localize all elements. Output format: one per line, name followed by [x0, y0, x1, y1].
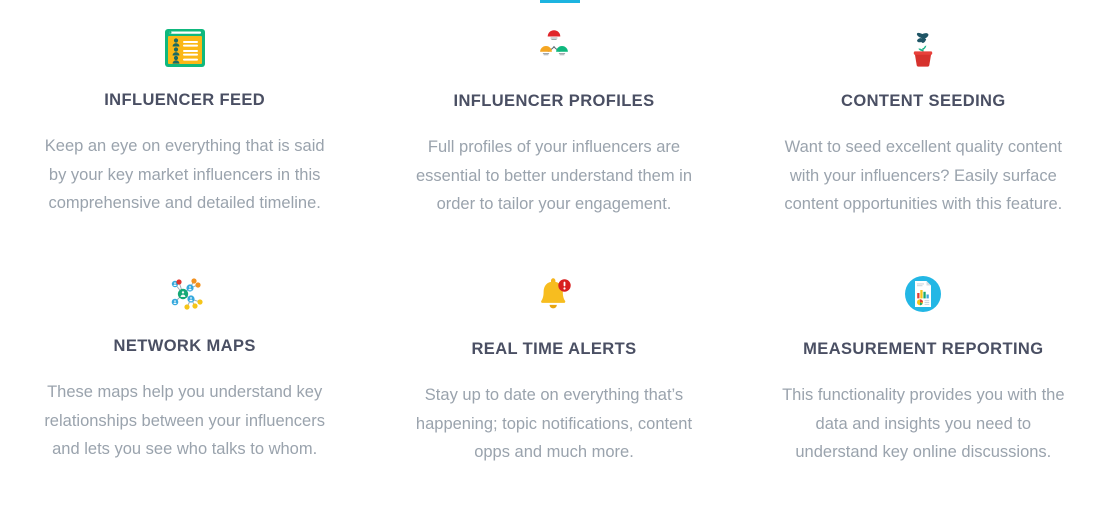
feature-card-influencer-feed[interactable]: INFLUENCER FEED Keep an eye on everythin… [0, 0, 369, 268]
feature-description: These maps help you understand key relat… [35, 378, 335, 464]
real-time-alerts-icon [529, 268, 579, 320]
feature-title: REAL TIME ALERTS [471, 340, 636, 359]
feature-title: INFLUENCER PROFILES [453, 92, 654, 111]
feature-description: Want to seed excellent quality content w… [773, 133, 1073, 219]
network-maps-icon [161, 268, 209, 320]
feature-description: Stay up to date on everything that’s hap… [404, 381, 704, 467]
feature-card-real-time-alerts[interactable]: REAL TIME ALERTS Stay up to date on ever… [369, 268, 738, 516]
feature-card-influencer-profiles[interactable]: INFLUENCER PROFILES Full profiles of you… [369, 0, 738, 268]
features-section: INFLUENCER FEED Keep an eye on everythin… [0, 0, 1108, 516]
features-row-1: INFLUENCER FEED Keep an eye on everythin… [0, 0, 1108, 268]
feature-card-measurement-reporting[interactable]: MEASUREMENT REPORTING This functionality… [739, 268, 1108, 516]
feature-description: Keep an eye on everything that is said b… [35, 132, 335, 218]
measurement-reporting-icon [900, 268, 946, 320]
feature-title: INFLUENCER FEED [104, 91, 265, 110]
influencer-profiles-icon [531, 22, 577, 74]
feature-title: MEASUREMENT REPORTING [803, 340, 1043, 359]
feature-description: This functionality provides you with the… [773, 381, 1073, 467]
feature-card-network-maps[interactable]: NETWORK MAPS These maps help you underst… [0, 268, 369, 516]
feature-title: CONTENT SEEDING [841, 92, 1006, 111]
content-seeding-icon [901, 22, 945, 74]
influencer-feed-icon [162, 22, 208, 74]
feature-description: Full profiles of your influencers are es… [404, 133, 704, 219]
feature-card-content-seeding[interactable]: CONTENT SEEDING Want to seed excellent q… [739, 0, 1108, 268]
features-row-2: NETWORK MAPS These maps help you underst… [0, 268, 1108, 516]
feature-title: NETWORK MAPS [114, 337, 256, 356]
